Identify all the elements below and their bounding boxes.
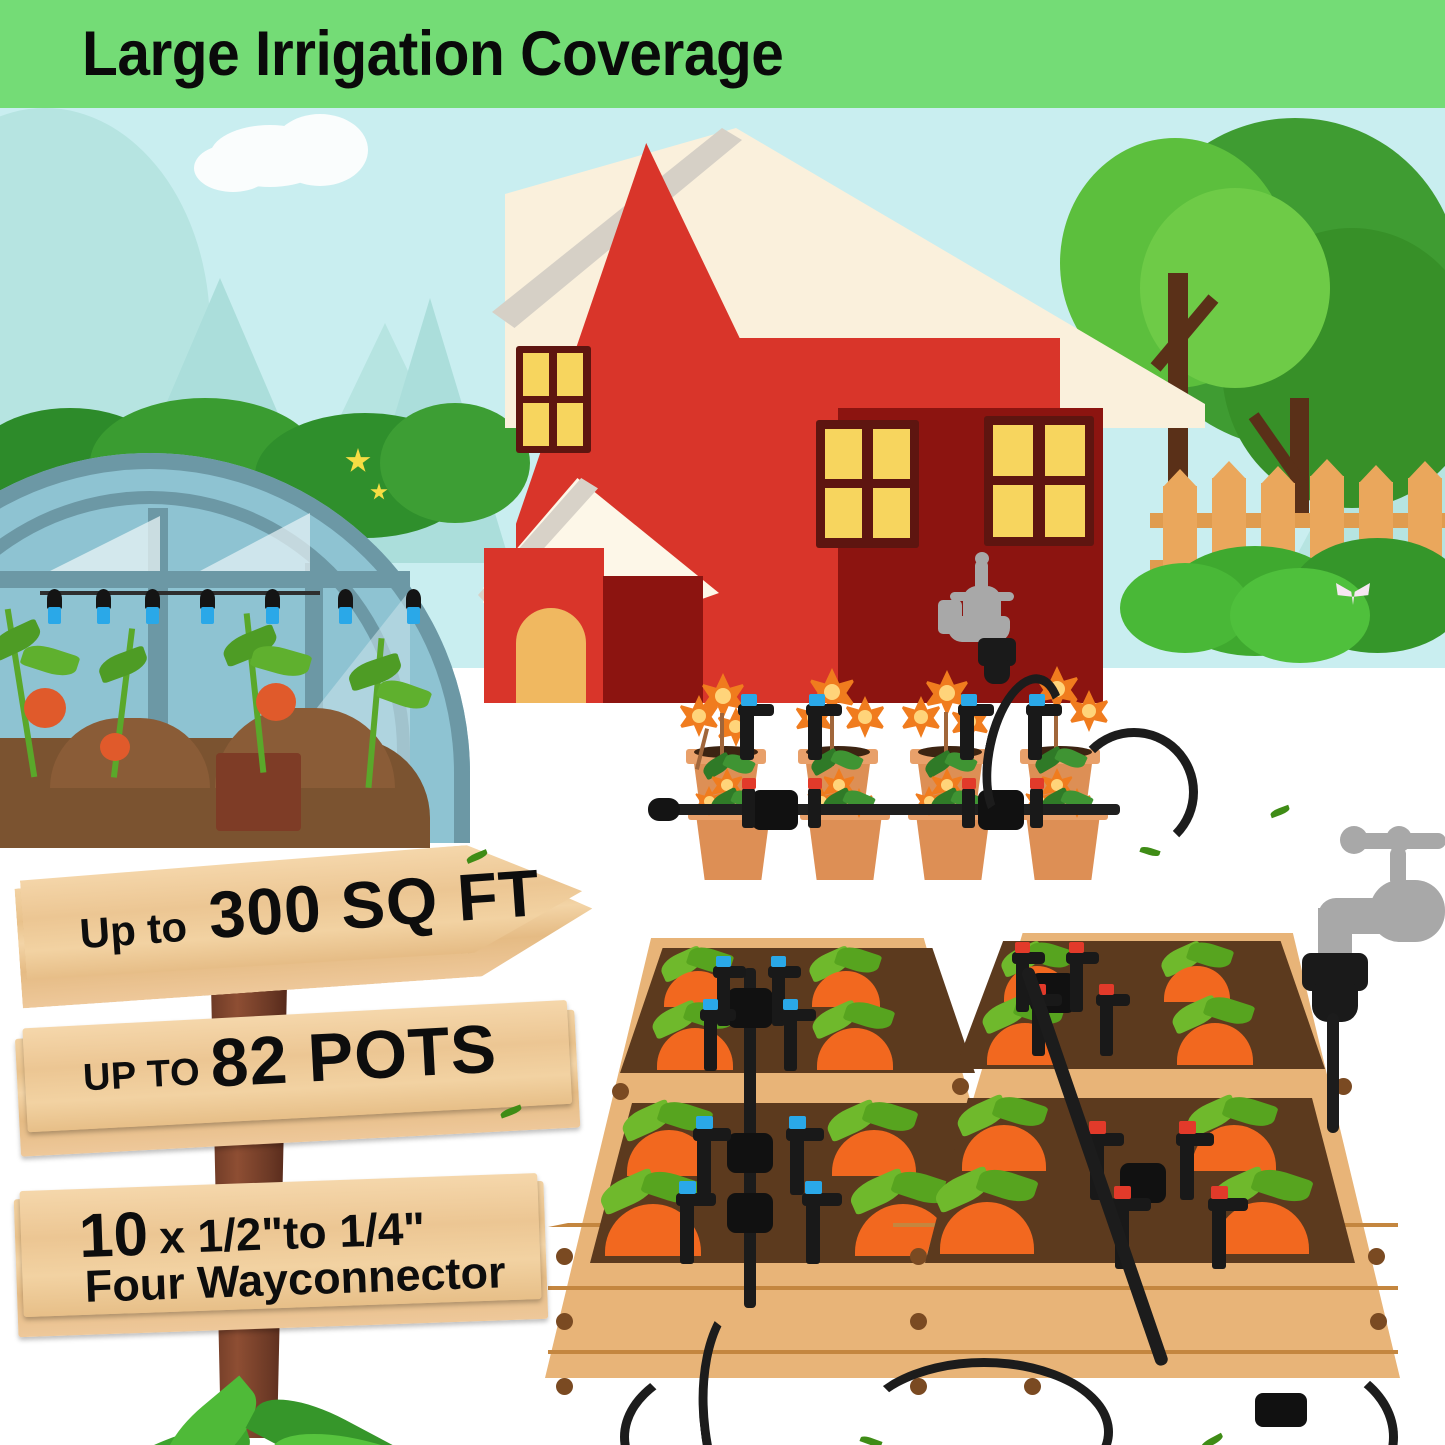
mister-nozzle xyxy=(338,589,353,609)
yard-faucet-hose xyxy=(1327,1013,1339,1133)
window-pane xyxy=(825,429,862,479)
drip-emitter-cap xyxy=(783,999,798,1010)
sign-connector-count[interactable]: 10 x 1/2"to 1/4" Four Wayconnector xyxy=(7,1171,557,1350)
drip-emitter-stake xyxy=(1100,998,1113,1056)
drip-emitter-cap xyxy=(716,956,731,967)
sign-prefix-text: UP TO xyxy=(82,1051,201,1100)
house-window-left xyxy=(816,420,919,548)
mister-cap xyxy=(201,607,214,624)
wall-faucet-handle-knob xyxy=(975,552,989,565)
drip-emitter-arm xyxy=(693,1128,731,1141)
drip-emitter-cap xyxy=(962,778,976,789)
mister-nozzle xyxy=(145,589,160,609)
manifold-end-cap xyxy=(648,798,680,821)
drip-emitter-cap xyxy=(809,694,825,706)
sign-highlight-text: 82 POTS xyxy=(208,1010,498,1103)
bush-fence-front-4 xyxy=(1230,568,1370,663)
house-window-right xyxy=(984,416,1094,546)
mister-nozzle xyxy=(265,589,280,609)
drip-emitter-cap xyxy=(679,1181,696,1194)
drip-emitter-stake xyxy=(742,788,755,828)
house-porch-dark xyxy=(603,576,703,703)
drip-emitter-cap xyxy=(1015,942,1030,953)
drip-emitter-cap xyxy=(961,694,977,706)
drip-emitter-cap xyxy=(805,1181,822,1194)
drip-emitter-arm xyxy=(1176,1133,1214,1146)
cloud-puff xyxy=(272,114,368,186)
drip-emitter-cap xyxy=(1099,984,1114,995)
mister-cap xyxy=(146,607,159,624)
drip-emitter-stake xyxy=(806,1198,820,1264)
yard-faucet-handle-knob xyxy=(1340,826,1368,854)
window-pane xyxy=(557,403,583,446)
wall-faucet-handle-cross xyxy=(978,565,986,623)
sign-pot-capacity[interactable]: UP TO 82 POTS xyxy=(6,995,594,1185)
four-way-connector xyxy=(727,988,773,1028)
drip-emitter-cap xyxy=(741,694,757,706)
house-door xyxy=(516,608,586,703)
bed-knot xyxy=(952,1078,969,1095)
bed-knot xyxy=(1368,1248,1385,1265)
drip-emitter-stake xyxy=(680,1198,694,1264)
drip-emitter-stake xyxy=(704,1013,717,1071)
house-attic-window xyxy=(516,346,591,453)
drip-emitter-arm xyxy=(713,966,746,978)
bed-plank-line xyxy=(893,1286,1398,1290)
bed-knot xyxy=(556,1248,573,1265)
drip-emitter-cap xyxy=(1179,1121,1196,1134)
drip-emitter-stake xyxy=(784,1013,797,1071)
flower-center xyxy=(824,684,840,700)
sign-coverage-area[interactable]: Up to 300 SQ FT xyxy=(14,836,613,1022)
tomato-fruit xyxy=(100,733,130,761)
mister-nozzle xyxy=(96,589,111,609)
drip-emitter-arm xyxy=(768,966,801,978)
four-way-connector xyxy=(752,790,798,830)
drip-emitter-arm xyxy=(676,1193,716,1206)
drip-emitter-cap xyxy=(1114,1186,1131,1199)
drip-emitter-cap xyxy=(1211,1186,1228,1199)
sign-prefix-text: Up to xyxy=(78,903,188,958)
drip-emitter-cap xyxy=(1089,1121,1106,1134)
window-pane xyxy=(993,485,1033,537)
supply-hose-loop-right xyxy=(1070,728,1198,856)
flower-center xyxy=(914,710,928,724)
flower-center xyxy=(1082,704,1096,718)
window-pane xyxy=(523,353,549,396)
drip-emitter-arm xyxy=(1096,994,1130,1006)
greenhouse-transom xyxy=(0,571,410,588)
drip-emitter-arm xyxy=(700,1009,736,1021)
drip-emitter-stake xyxy=(962,788,975,828)
window-pane xyxy=(557,353,583,396)
bed-plank-line xyxy=(893,1350,1398,1354)
window-pane xyxy=(825,488,862,538)
mister-nozzle xyxy=(406,589,421,609)
window-pane xyxy=(993,425,1033,476)
flower-center xyxy=(692,709,706,723)
mister-cap xyxy=(407,607,420,624)
flower-center xyxy=(939,685,955,701)
drip-emitter-stake xyxy=(1212,1203,1226,1269)
bed-knot xyxy=(556,1378,573,1395)
mister-cap xyxy=(339,607,352,624)
drip-emitter-arm xyxy=(1012,952,1045,964)
drip-emitter-cap xyxy=(742,778,756,789)
drip-emitter-cap xyxy=(696,1116,713,1129)
product-infographic: Large Irrigation Coverage xyxy=(0,0,1445,1445)
flower-center xyxy=(858,710,872,724)
drip-emitter-cap xyxy=(771,956,786,967)
mister-cap xyxy=(48,607,61,624)
tomato-fruit xyxy=(24,688,66,728)
illustration-scene: Up to 300 SQ FT UP TO 82 POTS 10 x 1/2"t… xyxy=(0,108,1445,1445)
drip-emitter-arm xyxy=(1066,952,1099,964)
bed-knot xyxy=(612,1083,629,1100)
mister-cap xyxy=(266,607,279,624)
drip-emitter-stake xyxy=(1070,956,1083,1012)
bed-knot xyxy=(556,1313,573,1330)
flower-center xyxy=(715,688,731,704)
drip-emitter-cap xyxy=(789,1116,806,1129)
drip-emitter-arm xyxy=(802,1193,842,1206)
drip-emitter-cap xyxy=(1069,942,1084,953)
window-pane xyxy=(1045,485,1085,537)
window-pane xyxy=(1045,425,1085,476)
drip-emitter-stake xyxy=(808,788,821,828)
cloud-puff xyxy=(194,144,272,192)
window-pane xyxy=(873,429,910,479)
bed-knot xyxy=(910,1313,927,1330)
drip-emitter-arm xyxy=(1111,1198,1151,1211)
page-title: Large Irrigation Coverage xyxy=(82,18,783,90)
drip-emitter-arm xyxy=(780,1009,816,1021)
greenhouse-planter-box xyxy=(216,753,301,831)
bed-knot xyxy=(910,1248,927,1265)
mister-cap xyxy=(97,607,110,624)
window-pane xyxy=(523,403,549,446)
mister-nozzle xyxy=(47,589,62,609)
wall-faucet-hose-collar xyxy=(984,660,1010,684)
tomato-fruit xyxy=(256,683,296,721)
drip-emitter-stake xyxy=(790,1133,804,1195)
mister-nozzle xyxy=(200,589,215,609)
grass-mark xyxy=(1269,805,1290,818)
manifold-main-pipe xyxy=(650,804,1120,815)
drip-emitter-stake xyxy=(1180,1138,1194,1200)
yard-faucet-downpipe xyxy=(1318,908,1352,958)
bed-knot xyxy=(1370,1313,1387,1330)
four-way-connector xyxy=(727,1193,773,1233)
drip-emitter-arm xyxy=(786,1128,824,1141)
four-way-connector xyxy=(727,1133,773,1173)
wall-faucet-flange xyxy=(938,600,962,634)
window-pane xyxy=(873,488,910,538)
drip-emitter-cap xyxy=(703,999,718,1010)
drip-emitter-arm xyxy=(1208,1198,1248,1211)
header-banner: Large Irrigation Coverage xyxy=(0,0,1445,108)
drip-emitter-stake xyxy=(697,1133,711,1195)
drip-emitter-cap xyxy=(808,778,822,789)
